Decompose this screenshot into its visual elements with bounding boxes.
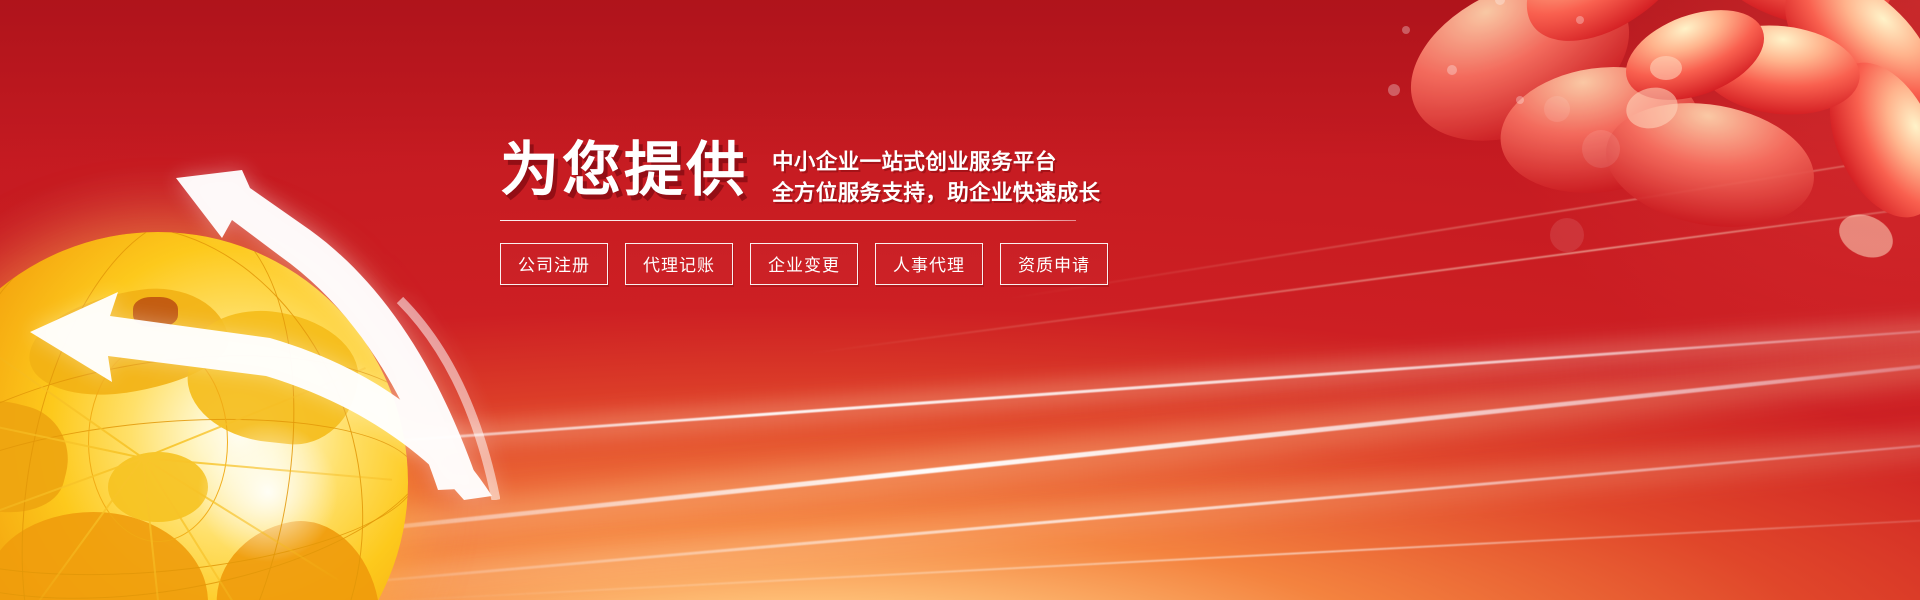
service-tag-list: 公司注册 代理记账 企业变更 人事代理 资质申请 [500,243,1120,285]
divider [500,220,1076,221]
service-tag-company-registration[interactable]: 公司注册 [500,243,608,285]
bokeh-circle [1582,130,1620,168]
flower-decoration-icon [1370,0,1920,260]
page-title: 为您提供 [500,140,748,200]
bokeh-circle [1544,96,1570,122]
banner-content: 为您提供 中小企业一站式创业服务平台 全方位服务支持，助企业快速成长 公司注册 … [500,140,1120,285]
subtitle-line-2: 全方位服务支持，助企业快速成长 [772,178,1101,209]
subtitle-block: 中小企业一站式创业服务平台 全方位服务支持，助企业快速成长 [772,140,1101,208]
bokeh-circle [1550,218,1584,252]
curved-arrows-icon [0,70,500,500]
service-tag-hr-agency[interactable]: 人事代理 [875,243,983,285]
service-tag-qualification-application[interactable]: 资质申请 [1000,243,1108,285]
service-tag-business-change[interactable]: 企业变更 [750,243,858,285]
service-tag-bookkeeping[interactable]: 代理记账 [625,243,733,285]
subtitle-line-1: 中小企业一站式创业服务平台 [772,147,1101,178]
headline-row: 为您提供 中小企业一站式创业服务平台 全方位服务支持，助企业快速成长 [500,140,1120,208]
promotional-banner: 为您提供 中小企业一站式创业服务平台 全方位服务支持，助企业快速成长 公司注册 … [0,0,1920,600]
